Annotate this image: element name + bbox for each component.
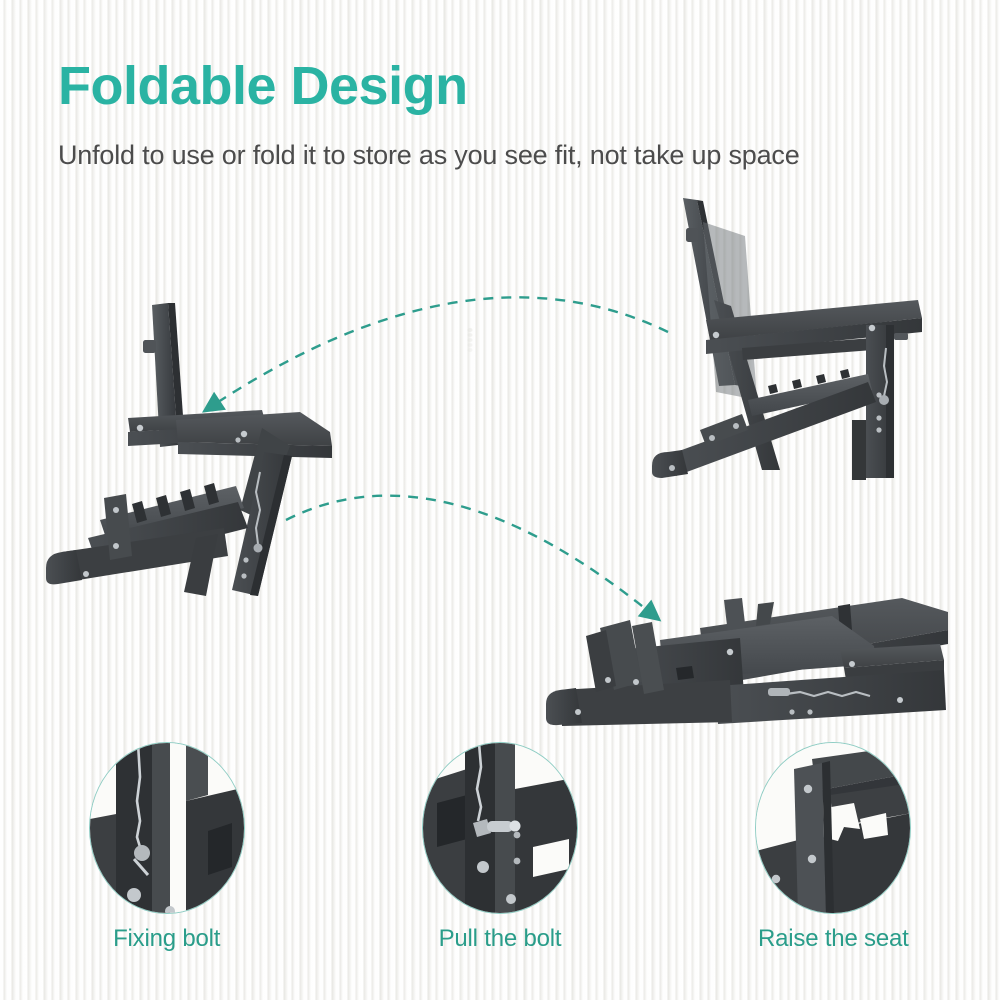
detail-callouts: Fixing bolt Pull the bolt — [0, 742, 1000, 972]
seat-raise-icon — [755, 742, 911, 914]
detail-caption: Pull the bolt — [333, 925, 666, 953]
detail-caption: Raise the seat — [667, 925, 1000, 953]
detail-item-raise-seat[interactable]: Raise the seat — [667, 742, 1000, 972]
detail-caption: Fixing bolt — [0, 925, 333, 953]
chair-unfolded-illustration — [652, 198, 922, 480]
curved-dashed-arrow-icon — [286, 496, 652, 614]
bolt-chain-icon — [89, 742, 245, 914]
chair-folded-flat-illustration — [546, 598, 948, 726]
detail-item-fixing-bolt[interactable]: Fixing bolt — [0, 742, 333, 972]
detail-item-pull-bolt[interactable]: Pull the bolt — [333, 742, 666, 972]
chair-partially-folded-illustration — [46, 303, 332, 596]
curved-dashed-arrow-icon — [212, 297, 668, 406]
bolt-pulled-icon — [422, 742, 578, 914]
